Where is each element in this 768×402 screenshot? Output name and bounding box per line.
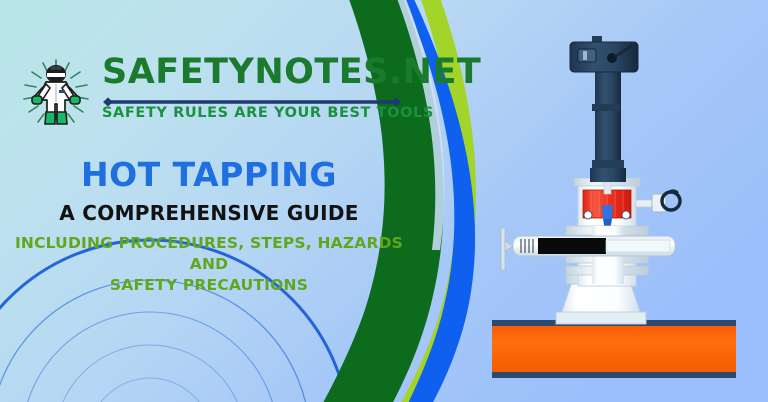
hot-tap-drive-unit	[570, 36, 638, 72]
page-subtitle: A COMPREHENSIVE GUIDE	[0, 199, 418, 227]
page-description-line1: INCLUDING PROCEDURES, STEPS, HAZARDS AND	[0, 233, 418, 275]
page-title: HOT TAPPING	[0, 155, 418, 195]
safety-worker-icon	[16, 54, 96, 132]
tapping-valve-body	[566, 178, 648, 286]
logo-divider-rule	[102, 94, 402, 104]
headline-block: HOT TAPPING A COMPREHENSIVE GUIDE INCLUD…	[0, 155, 418, 296]
boring-bar	[590, 62, 626, 182]
bleed-valve-handwheel	[636, 191, 680, 212]
poster-canvas: SAFETYNOTES.NET SAFETY RULES ARE YOUR BE…	[0, 0, 768, 402]
logo-tagline: SAFETY RULES ARE YOUR BEST TOOLS	[102, 105, 402, 122]
live-pipeline	[492, 320, 736, 378]
page-description-line2: SAFETY PRECAUTIONS	[0, 275, 418, 296]
site-logo[interactable]: SAFETYNOTES.NET SAFETY RULES ARE YOUR BE…	[16, 52, 406, 134]
logo-wordmark: SAFETYNOTES.NET	[102, 52, 402, 92]
